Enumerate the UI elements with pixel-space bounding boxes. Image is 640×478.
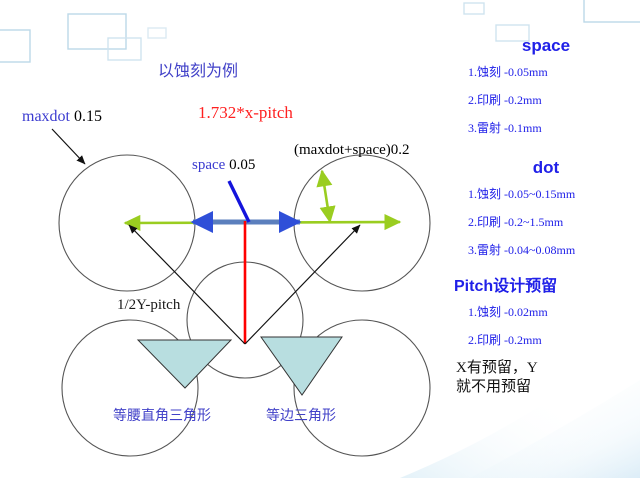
green-maxdot-space-arrow — [322, 171, 330, 222]
pitch-spec-item: 1.蚀刻 -0.02mm — [452, 303, 640, 320]
isosceles-right-triangle — [138, 340, 231, 388]
pitch-formula: 1.732*x-pitch — [198, 104, 293, 122]
dot-spec-item: 3.雷射 -0.04~0.08mm — [452, 241, 640, 258]
space-label-value: 0.05 — [225, 157, 255, 173]
half-y-pitch-label: 1/2Y-pitch — [117, 298, 180, 314]
triangle-left-label: 等腰直角三角形 — [113, 408, 211, 423]
maxdot-label-value: 0.15 — [70, 108, 102, 125]
pitch-note: X有预留，Y 就不用预留 — [452, 359, 640, 397]
pitch-note-line-1: X有预留，Y — [456, 359, 640, 378]
dot-spec-item: 1.蚀刻 -0.05~0.15mm — [452, 185, 640, 202]
space-spec-heading: space — [452, 36, 640, 56]
dot-spec-group: dot 1.蚀刻 -0.05~0.15mm 2.印刷 -0.2~1.5mm 3.… — [452, 158, 640, 258]
pitch-note-line-2: 就不用预留 — [456, 378, 640, 397]
space-spec-item: 3.雷射 -0.1mm — [452, 119, 640, 136]
space-label-name: space — [192, 157, 225, 173]
space-label: space 0.05 — [192, 158, 255, 174]
pitch-spec-group: Pitch设计预留 1.蚀刻 -0.02mm 2.印刷 -0.2mm X有预留，… — [452, 272, 640, 397]
equilateral-triangle — [261, 337, 342, 395]
space-spec-item: 2.印刷 -0.2mm — [452, 91, 640, 108]
slide-canvas: 以蚀刻为例 1.732*x-pitch maxdot 0.15 space 0.… — [0, 0, 640, 478]
space-spec-item: 1.蚀刻 -0.05mm — [452, 63, 640, 80]
maxdot-label: maxdot 0.15 — [22, 109, 102, 126]
space-pointer-line — [229, 181, 249, 222]
maxdot-space-label: (maxdot+space)0.2 — [294, 143, 410, 159]
maxdot-label-name: maxdot — [22, 108, 70, 125]
triangle-right-label: 等边三角形 — [266, 408, 336, 423]
pitch-spec-heading: Pitch设计预留 — [452, 272, 640, 296]
spec-panel: space 1.蚀刻 -0.05mm 2.印刷 -0.2mm 3.雷射 -0.1… — [452, 36, 640, 407]
slide-title: 以蚀刻为例 — [158, 64, 238, 81]
pitch-spec-item: 2.印刷 -0.2mm — [452, 331, 640, 348]
dot-spec-heading: dot — [452, 158, 640, 178]
space-spec-group: space 1.蚀刻 -0.05mm 2.印刷 -0.2mm 3.雷射 -0.1… — [452, 36, 640, 136]
dot-spec-item: 2.印刷 -0.2~1.5mm — [452, 213, 640, 230]
maxdot-pointer-arrow — [52, 129, 85, 164]
